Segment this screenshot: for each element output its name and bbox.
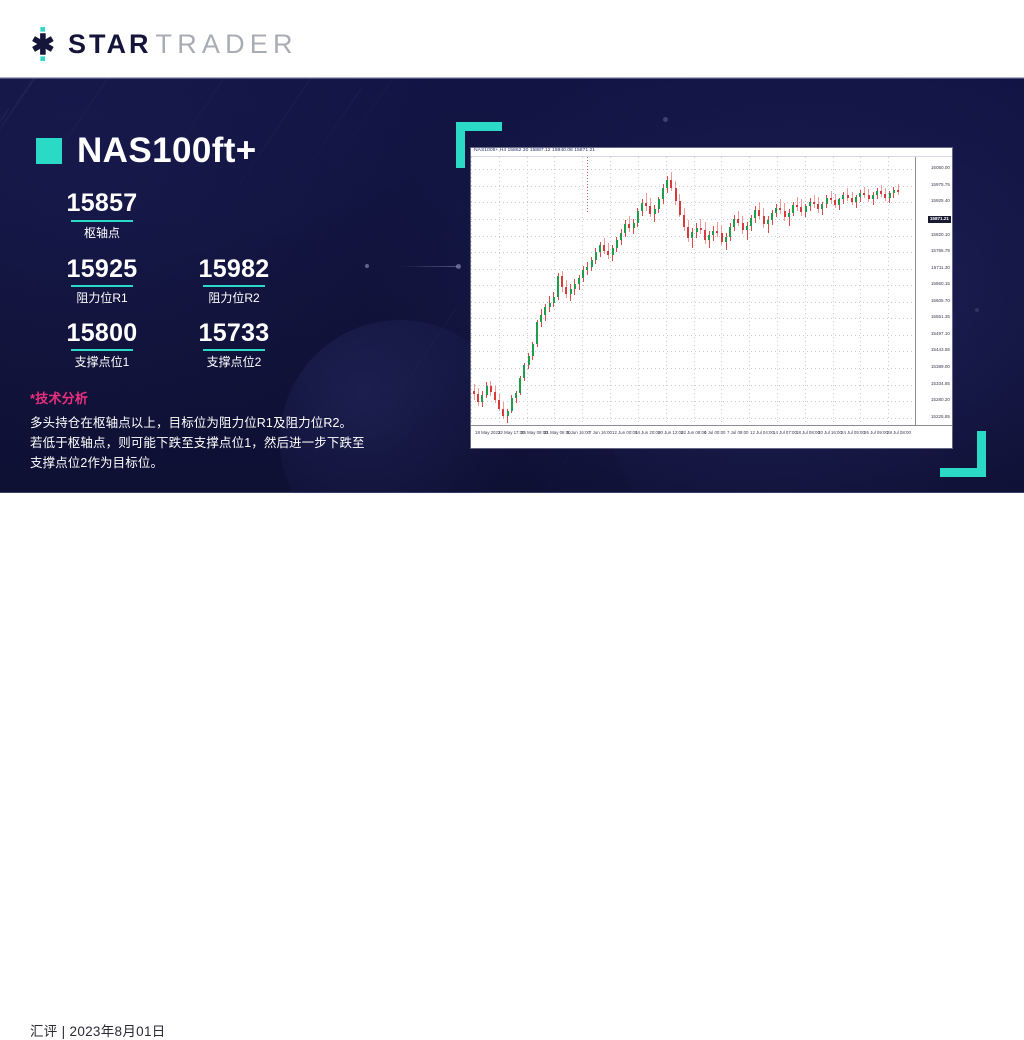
candlestick — [511, 157, 513, 437]
time-tick-label: 7 Jul 09:00 — [727, 431, 748, 435]
candlestick — [679, 157, 681, 437]
candlestick — [658, 157, 660, 437]
candle-body — [742, 223, 744, 231]
candle-body — [565, 287, 567, 293]
price-tick-label: 15334.65 — [931, 382, 950, 387]
candle-body — [847, 195, 849, 198]
candle-wick — [768, 216, 769, 233]
candlestick — [872, 157, 874, 437]
candlestick — [502, 157, 504, 437]
price-chart[interactable]: NAS100ft+,H4 15862.30 15887.12 15840.08 … — [471, 148, 952, 448]
candlestick — [884, 157, 886, 437]
underline-accent — [71, 285, 133, 287]
candlestick — [813, 157, 815, 437]
decor-dot — [663, 117, 668, 122]
candle-body — [725, 237, 727, 242]
candle-body — [675, 188, 677, 201]
pivot-point-value: 15857 — [36, 190, 168, 217]
candlestick — [670, 157, 672, 437]
candle-body — [708, 235, 710, 240]
candle-body — [813, 202, 815, 204]
candlestick — [821, 157, 823, 437]
resistance-2-value: 15982 — [168, 256, 300, 283]
candle-body — [549, 303, 551, 307]
candle-body — [826, 198, 828, 203]
candlestick — [771, 157, 773, 437]
candle-body — [716, 231, 718, 233]
candle-body — [654, 209, 656, 214]
candlestick — [662, 157, 664, 437]
candle-body — [855, 197, 857, 202]
candlestick — [809, 157, 811, 437]
candlestick — [712, 157, 714, 437]
candlestick — [737, 157, 739, 437]
price-tick-label: 15389.00 — [931, 365, 950, 370]
candlestick — [830, 157, 832, 437]
candle-body — [758, 210, 760, 216]
candle-body — [880, 191, 882, 194]
candle-body — [851, 198, 853, 201]
candle-body — [754, 210, 756, 218]
candlestick — [700, 157, 702, 437]
candlestick — [838, 157, 840, 437]
levels-row-pivot: 15857 枢轴点 — [36, 190, 396, 240]
time-tick-label: 7 Jun 16:00 — [589, 431, 612, 435]
candle-body — [481, 395, 483, 403]
candlestick — [637, 157, 639, 437]
candle-body — [868, 195, 870, 198]
candlestick — [746, 157, 748, 437]
candle-body — [763, 216, 765, 225]
candlestick — [616, 157, 618, 437]
candle-body — [544, 307, 546, 316]
candle-wick — [646, 193, 647, 210]
candlestick — [683, 157, 685, 437]
candle-body — [767, 220, 769, 224]
candlestick — [582, 157, 584, 437]
candlestick — [607, 157, 609, 437]
candlestick — [523, 157, 525, 437]
chart-title-text: NAS100ft+,H4 15862.30 15887.12 15840.08 … — [474, 148, 595, 153]
time-tick-label: 5 Jun 16:00 — [567, 431, 590, 435]
candle-body — [561, 276, 563, 287]
pivot-point-label: 枢轴点 — [36, 226, 168, 240]
candle-body — [528, 356, 530, 365]
candle-body — [607, 251, 609, 256]
bracket-arm-vertical — [977, 431, 986, 477]
candlestick — [481, 157, 483, 437]
candle-body — [578, 278, 580, 284]
candle-body — [666, 180, 668, 188]
candle-body — [582, 270, 584, 278]
candlestick — [696, 157, 698, 437]
candlestick — [473, 157, 475, 437]
candle-body — [863, 193, 865, 195]
candlestick — [779, 157, 781, 437]
candlestick — [716, 157, 718, 437]
candle-body — [712, 231, 714, 235]
candle-body — [788, 213, 790, 218]
candle-body — [599, 245, 601, 251]
candle-body — [586, 267, 588, 270]
candle-body — [687, 227, 689, 238]
analysis-line-3: 支撑点位2作为目标位。 — [30, 454, 430, 474]
candle-body — [737, 219, 739, 223]
underline-accent — [71, 349, 133, 351]
candlestick — [758, 157, 760, 437]
candle-body — [729, 227, 731, 237]
time-tick-label: 14 Jul 07:00 — [773, 431, 797, 435]
candlestick — [519, 157, 521, 437]
candlestick — [889, 157, 891, 437]
candlestick — [826, 157, 828, 437]
time-tick-label: 4 Jul 00:00 — [704, 431, 725, 435]
candle-body — [830, 198, 832, 200]
candlestick — [687, 157, 689, 437]
page-footer: 汇评 | 2023年8月01日 — [0, 493, 1024, 576]
candle-body — [792, 205, 794, 213]
candlestick — [855, 157, 857, 437]
price-tick-label: 15280.20 — [931, 398, 950, 403]
candle-body — [893, 190, 895, 193]
candlestick — [540, 157, 542, 437]
candle-body — [838, 199, 840, 204]
candle-body — [624, 224, 626, 232]
candlestick — [498, 157, 500, 437]
candlestick — [490, 157, 492, 437]
candle-body — [670, 180, 672, 188]
candlestick — [859, 157, 861, 437]
candle-body — [507, 411, 509, 416]
candle-body — [750, 218, 752, 226]
time-tick-label: 22 Jun 08:00 — [681, 431, 706, 435]
candle-body — [498, 400, 500, 409]
candlestick — [805, 157, 807, 437]
candle-body — [523, 365, 525, 378]
candlestick — [620, 157, 622, 437]
candlestick — [528, 157, 530, 437]
price-tick-label: 15820.10 — [931, 233, 950, 238]
candle-body — [532, 344, 534, 356]
candle-body — [817, 204, 819, 209]
candle-body — [821, 204, 823, 210]
candlestick — [486, 157, 488, 437]
candlestick — [863, 157, 865, 437]
candle-body — [800, 207, 802, 212]
candlestick — [851, 157, 853, 437]
candlestick — [742, 157, 744, 437]
candlestick — [763, 157, 765, 437]
candle-body — [733, 219, 735, 227]
square-bullet-icon — [36, 138, 62, 164]
candle-body — [884, 194, 886, 197]
underline-accent — [71, 220, 133, 222]
chart-crosshair-line — [587, 157, 588, 212]
instrument-title-row: NAS100ft+ — [36, 131, 257, 171]
candlestick — [532, 157, 534, 437]
candle-body — [746, 226, 748, 230]
candlestick — [633, 157, 635, 437]
time-tick-label: 20 Jun 12:00 — [658, 431, 683, 435]
price-tick-label: 15443.55 — [931, 348, 950, 353]
time-tick-label: 18 Jul 08:00 — [796, 431, 820, 435]
time-tick-label: 20 Jul 16:00 — [818, 431, 842, 435]
candle-body — [700, 228, 702, 230]
candle-body — [683, 215, 685, 228]
candlestick — [654, 157, 656, 437]
candle-body — [679, 201, 681, 214]
candle-body — [595, 252, 597, 260]
underline-accent — [203, 349, 265, 351]
decor-dot-trail — [398, 266, 458, 267]
underline-accent — [203, 285, 265, 287]
candlestick — [666, 157, 668, 437]
resistance-1: 15925 阻力位R1 — [36, 256, 168, 306]
analysis-block: *技术分析 多头持仓在枢轴点以上，目标位为阻力位R1及阻力位R2。 若低于枢轴点… — [30, 388, 430, 473]
candlestick — [729, 157, 731, 437]
candle-body — [540, 315, 542, 322]
candlestick — [494, 157, 496, 437]
candle-body — [775, 208, 777, 214]
candle-body — [721, 233, 723, 242]
candle-body — [842, 195, 844, 200]
candlestick — [788, 157, 790, 437]
candle-body — [536, 322, 538, 344]
candlestick — [515, 157, 517, 437]
candle-body — [872, 195, 874, 199]
candlestick — [733, 157, 735, 437]
candle-body — [704, 230, 706, 240]
candle-body — [473, 391, 475, 394]
price-tick-label: 15925.40 — [931, 199, 950, 204]
candle-body — [834, 200, 836, 205]
candle-body — [628, 224, 630, 227]
time-tick-label: 12 Jul 04:00 — [750, 431, 774, 435]
candle-body — [889, 193, 891, 198]
current-price-tag: 15871.21 — [928, 216, 951, 223]
candlestick — [834, 157, 836, 437]
candle-body — [696, 228, 698, 232]
support-1: 15800 支撑点位1 — [36, 320, 168, 370]
candle-body — [809, 202, 811, 207]
candle-wick — [717, 222, 718, 238]
candle-body — [515, 393, 517, 398]
asterisk-star-icon — [27, 27, 59, 61]
decor-streak — [321, 78, 406, 183]
candle-body — [779, 208, 781, 211]
candle-body — [603, 245, 605, 250]
levels-row-support: 15800 支撑点位1 15733 支撑点位2 — [36, 320, 396, 370]
candlestick — [817, 157, 819, 437]
price-tick-label: 15225.85 — [931, 415, 950, 420]
candlestick — [507, 157, 509, 437]
candlestick — [549, 157, 551, 437]
time-tick-label: 26 Jul 09:00 — [864, 431, 888, 435]
candle-wick — [747, 222, 748, 239]
price-tick-label: 16050.00 — [931, 166, 950, 171]
candlestick — [612, 157, 614, 437]
brand-logo: STAR TRADER — [27, 27, 298, 61]
candlestick — [784, 157, 786, 437]
price-tick-label: 15660.15 — [931, 282, 950, 287]
price-tick-label: 15497.10 — [931, 332, 950, 337]
hero-stage: NAS100ft+ 15857 枢轴点 15925 阻力位R1 15982 — [0, 78, 1024, 493]
candle-body — [494, 392, 496, 400]
candlestick — [792, 157, 794, 437]
support-1-label: 支撑点位1 — [36, 355, 168, 369]
footer-caption: 汇评 | 2023年8月01日 — [30, 1020, 166, 1040]
candlestick — [675, 157, 677, 437]
candlestick — [595, 157, 597, 437]
candlestick — [725, 157, 727, 437]
support-2: 15733 支撑点位2 — [168, 320, 300, 370]
candlestick — [754, 157, 756, 437]
candlestick — [649, 157, 651, 437]
candlestick — [691, 157, 693, 437]
candle-body — [486, 386, 488, 394]
candle-body — [502, 409, 504, 416]
candle-body — [570, 289, 572, 294]
candle-body — [591, 260, 593, 267]
time-tick-label: 14 Jun 20:00 — [635, 431, 660, 435]
candle-body — [859, 193, 861, 197]
candle-body — [612, 248, 614, 255]
chart-title-bar: NAS100ft+,H4 15862.30 15887.12 15840.08 … — [471, 148, 952, 157]
stage-top-divider — [0, 78, 1024, 79]
candlestick — [767, 157, 769, 437]
candlestick — [561, 157, 563, 437]
candlestick — [544, 157, 546, 437]
candle-body — [620, 233, 622, 241]
support-2-value: 15733 — [168, 320, 300, 347]
candle-body — [557, 276, 559, 297]
candle-body — [662, 188, 664, 199]
candlestick — [599, 157, 601, 437]
analysis-line-1: 多头持仓在枢轴点以上，目标位为阻力位R1及阻力位R2。 — [30, 414, 430, 434]
levels-row-resistance: 15925 阻力位R1 15982 阻力位R2 — [36, 256, 396, 306]
candle-body — [771, 213, 773, 220]
candlestick — [624, 157, 626, 437]
candlestick — [628, 157, 630, 437]
candle-body — [876, 191, 878, 194]
candle-wick — [797, 197, 798, 210]
time-tick-label: 12 Jun 00:00 — [612, 431, 637, 435]
time-axis: 18 May 202322 May 17:0026 May 09:0031 Ma… — [471, 425, 952, 437]
candle-body — [649, 206, 651, 214]
candlestick — [842, 157, 844, 437]
candlestick — [775, 157, 777, 437]
candle-body — [511, 398, 513, 411]
candlestick — [557, 157, 559, 437]
candle-body — [477, 394, 479, 402]
page-title: NAS100ft+ — [77, 131, 257, 171]
candle-body — [633, 223, 635, 228]
candlestick — [897, 157, 899, 437]
candlestick — [796, 157, 798, 437]
candlestick — [641, 157, 643, 437]
brand-wordmark: STAR TRADER — [68, 29, 298, 60]
resistance-1-value: 15925 — [36, 256, 168, 283]
candlestick — [570, 157, 572, 437]
time-tick-label: 24 Jul 05:00 — [841, 431, 865, 435]
brand-name-light: TRADER — [156, 29, 298, 60]
candle-body — [805, 206, 807, 212]
candlestick — [704, 157, 706, 437]
candlestick — [578, 157, 580, 437]
candlestick — [574, 157, 576, 437]
candle-body — [616, 240, 618, 248]
candlestick — [893, 157, 895, 437]
candlestick — [721, 157, 723, 437]
candle-body — [641, 203, 643, 211]
time-tick-label: 28 Jul 08:00 — [887, 431, 911, 435]
candlestick — [603, 157, 605, 437]
analysis-line-2: 若低于枢轴点，则可能下跌至支撑点位1，然后进一步下跌至 — [30, 434, 430, 454]
candlestick — [847, 157, 849, 437]
gridline-vertical — [471, 157, 472, 437]
pivot-point: 15857 枢轴点 — [36, 190, 168, 240]
candle-body — [637, 211, 639, 223]
candlestick — [565, 157, 567, 437]
support-2-label: 支撑点位2 — [168, 355, 300, 369]
resistance-1-label: 阻力位R1 — [36, 291, 168, 305]
candlestick — [708, 157, 710, 437]
candle-body — [553, 297, 555, 302]
candlestick — [477, 157, 479, 437]
support-1-value: 15800 — [36, 320, 168, 347]
page-header: STAR TRADER — [0, 0, 1024, 78]
candlestick — [880, 157, 882, 437]
price-tick-label: 15605.70 — [931, 299, 950, 304]
bracket-arm-vertical — [456, 122, 465, 168]
price-tick-label: 15711.30 — [931, 266, 950, 271]
candlestick — [553, 157, 555, 437]
analysis-heading: *技术分析 — [30, 388, 430, 407]
levels-grid: 15857 枢轴点 15925 阻力位R1 15982 阻力位R2 — [36, 190, 396, 370]
price-tick-label: 15975.75 — [931, 183, 950, 188]
candlestick — [645, 157, 647, 437]
candle-body — [658, 199, 660, 209]
candlestick — [876, 157, 878, 437]
candlestick — [536, 157, 538, 437]
price-tick-label: 15551.35 — [931, 315, 950, 320]
candle-body — [519, 378, 521, 393]
candle-body — [691, 232, 693, 238]
candle-body — [784, 211, 786, 218]
chart-plot-area[interactable]: 16050.0015975.7515925.4015871.2115820.10… — [471, 157, 952, 437]
price-tick-label: 15765.75 — [931, 249, 950, 254]
candlestick — [868, 157, 870, 437]
time-tick-label: 18 May 2023 — [475, 431, 500, 435]
candle-body — [490, 386, 492, 392]
candlestick — [591, 157, 593, 437]
brand-name-bold: STAR — [68, 29, 152, 60]
candle-body — [574, 284, 576, 289]
price-axis: 16050.0015975.7515925.4015871.2115820.10… — [915, 157, 952, 437]
candlestick — [750, 157, 752, 437]
candle-body — [796, 205, 798, 207]
candle-body — [645, 203, 647, 206]
candle-body — [897, 190, 899, 193]
resistance-2-label: 阻力位R2 — [168, 291, 300, 305]
candlestick — [800, 157, 802, 437]
resistance-2: 15982 阻力位R2 — [168, 256, 300, 306]
candle-wick — [700, 219, 701, 234]
marketing-card: STAR TRADER NAS100ft+ — [0, 0, 1024, 576]
